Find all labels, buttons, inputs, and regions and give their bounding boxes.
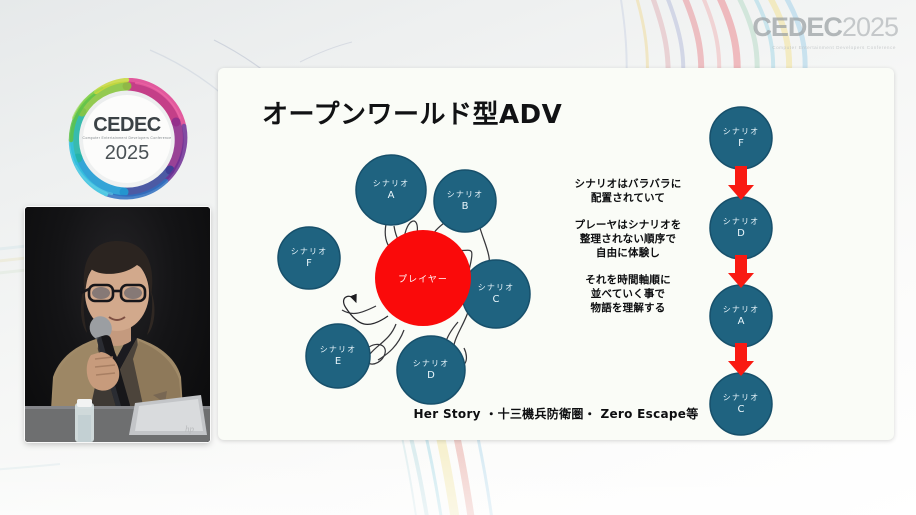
speaker-video-panel[interactable]: hp <box>25 207 210 442</box>
cedec-wordmark-year: 2025 <box>842 14 898 41</box>
slide-panel: オープンワールド型ADV <box>218 68 894 440</box>
badge-logo-subtitle: Computer Entertainment Developers Confer… <box>83 136 172 140</box>
cedec-wordmark-main: CEDEC <box>752 14 842 41</box>
explanation-text-block: シナリオはバラバラに 配置されていて プレーヤはシナリオを 整理されない順序で … <box>538 178 718 329</box>
badge-logo-year: 2025 <box>105 143 150 163</box>
slide-caption: Her Story ・十三機兵防衛圏・ Zero Escape等 <box>218 405 894 422</box>
laptop-brand-label: hp <box>185 424 194 434</box>
badge-logo-main: CEDEC <box>93 115 161 135</box>
player-node-circle <box>375 230 471 326</box>
cedec-wordmark-logo: CEDEC 2025 Computer Entertainment Develo… <box>752 14 898 41</box>
presentation-screen: CEDEC 2025 Computer Entertainment Develo… <box>0 0 916 515</box>
explanation-paragraph-1: シナリオはバラバラに 配置されていて <box>538 178 718 206</box>
explanation-paragraph-2: プレーヤはシナリオを 整理されない順序で 自由に体験し <box>538 219 718 261</box>
speaker-figure <box>25 207 210 442</box>
explanation-paragraph-3: それを時間軸順に 並べていく事で 物語を理解する <box>538 274 718 316</box>
cedec-wordmark-subtitle: Computer Entertainment Developers Confer… <box>772 45 896 50</box>
cedec-badge-logo: CEDEC Computer Entertainment Developers … <box>66 78 188 200</box>
